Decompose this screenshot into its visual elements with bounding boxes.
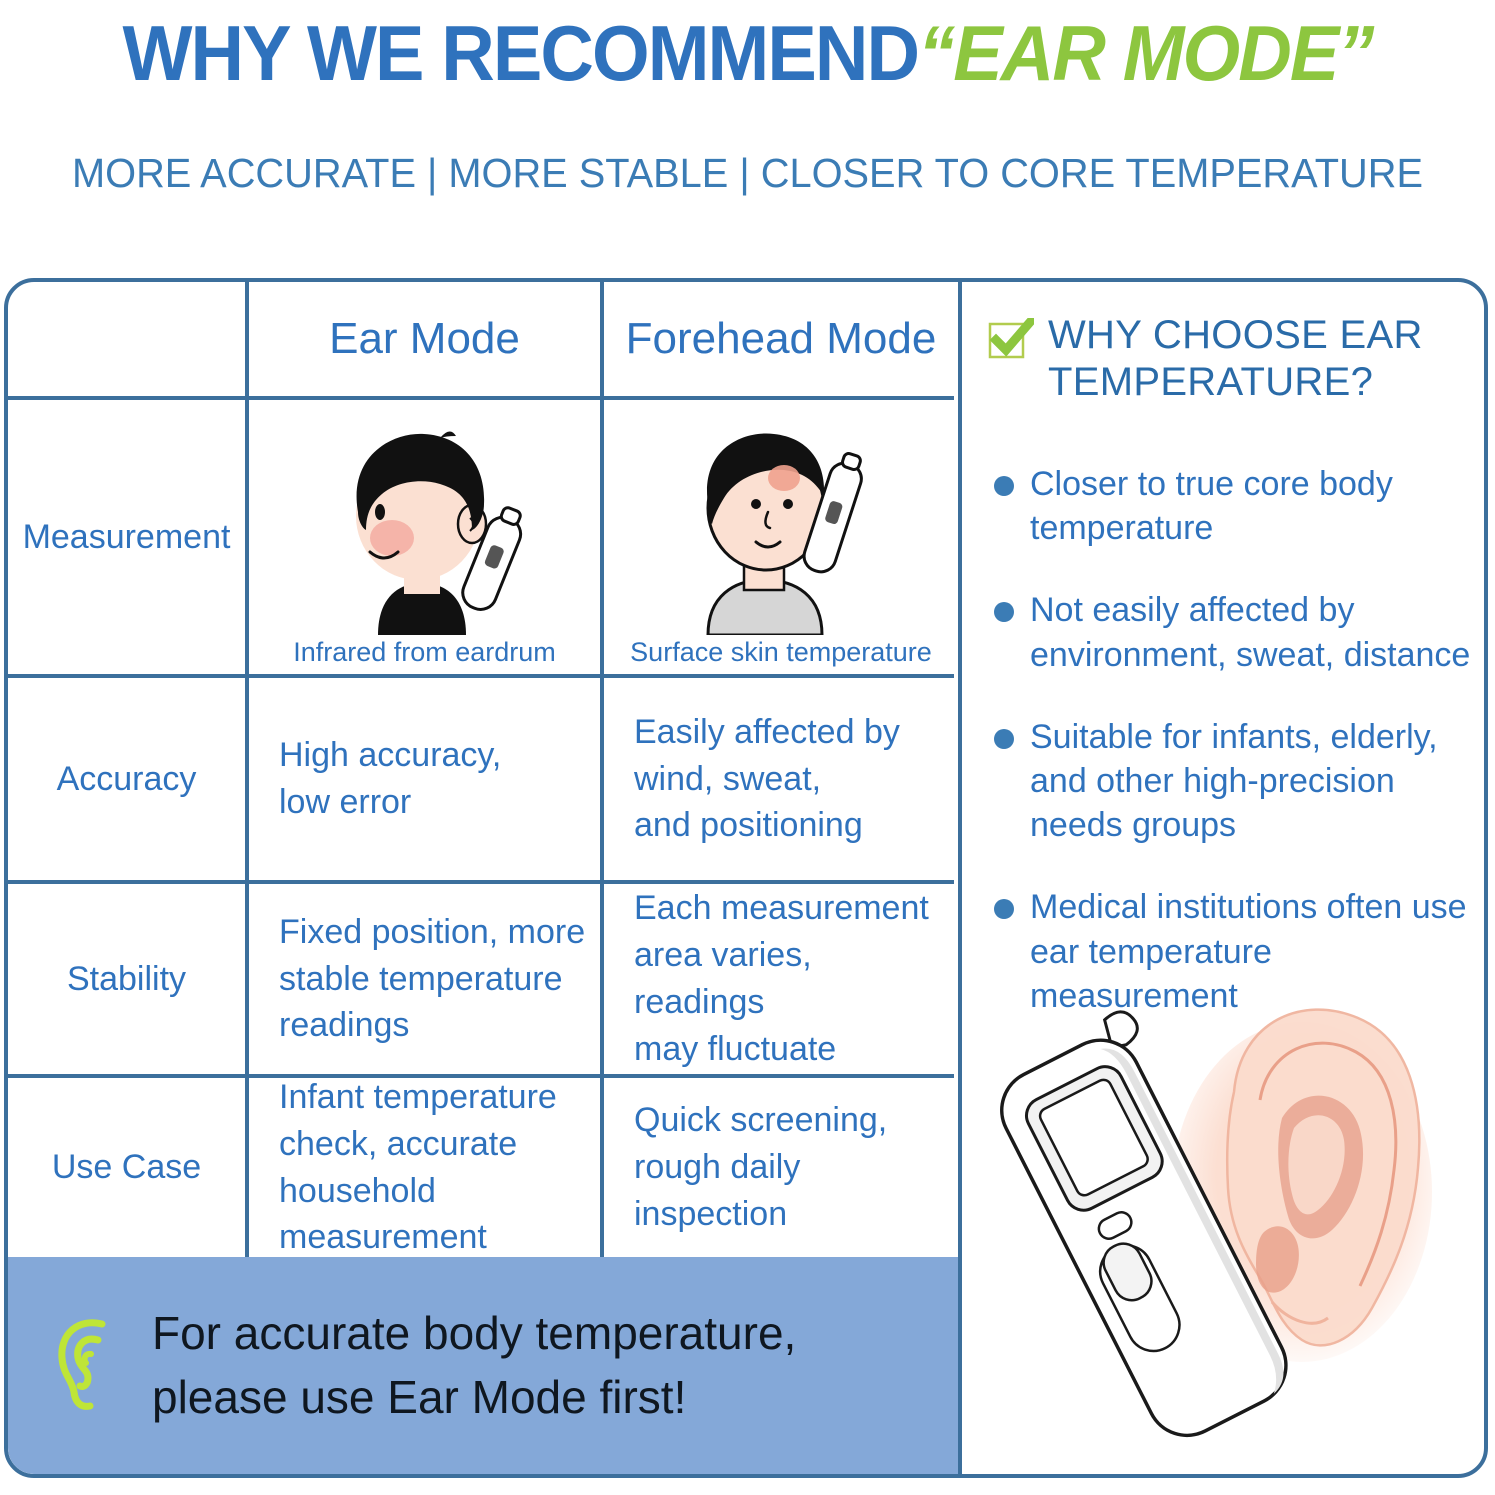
list-item: Closer to true core body temperature <box>994 462 1484 550</box>
list-item: Suitable for infants, elderly, and other… <box>994 715 1484 848</box>
benefit-text: Closer to true core body temperature <box>1030 462 1393 550</box>
heading-line-2: TEMPERATURE? <box>1048 360 1373 404</box>
table-row-label-stability: Stability <box>8 884 245 1074</box>
table-cell-use-case-forehead: Quick screening, rough daily inspection <box>604 1078 958 1257</box>
table-cell-stability-forehead: Each measurement area varies, readings m… <box>604 884 958 1074</box>
man-forehead-measurement-icon <box>656 420 906 635</box>
ear-icon <box>50 1314 128 1417</box>
bullet-dot-icon <box>994 476 1014 496</box>
table-cell-measurement-ear-illustration: Infrared from eardrum <box>249 400 600 674</box>
comparison-panel: Ear Mode Forehead Mode Measurement <box>4 278 1488 1478</box>
benefit-text: Suitable for infants, elderly, and other… <box>1030 715 1438 848</box>
recommendation-banner: For accurate body temperature, please us… <box>8 1257 958 1474</box>
ear-thermometer-illustration <box>972 942 1488 1472</box>
table-cell-use-case-ear: Infant temperature check, accurate house… <box>249 1078 600 1257</box>
table-cell-measurement-forehead-illustration: Surface skin temperature <box>604 400 958 674</box>
page-title: WHY WE RECOMMEND“EAR MODE” <box>37 8 1457 99</box>
why-choose-panel: WHY CHOOSE EAR TEMPERATURE? Closer to tr… <box>958 282 1488 1474</box>
comparison-table: Ear Mode Forehead Mode Measurement <box>8 282 958 1474</box>
boy-ear-measurement-icon <box>300 420 550 635</box>
header: WHY WE RECOMMEND“EAR MODE” MORE ACCURATE… <box>0 0 1495 270</box>
table-cell-accuracy-ear: High accuracy, low error <box>249 678 600 880</box>
table-cell-accuracy-forehead: Easily affected by wind, sweat, and posi… <box>604 678 958 880</box>
list-item: Not easily affected by environment, swea… <box>994 588 1484 676</box>
table-cell-caption-forehead: Surface skin temperature <box>630 637 932 668</box>
table-cell-caption-ear: Infrared from eardrum <box>293 637 556 668</box>
checkbox-checked-icon <box>988 318 1034 365</box>
why-choose-heading: WHY CHOOSE EAR TEMPERATURE? <box>988 312 1468 406</box>
banner-text: For accurate body temperature, please us… <box>152 1302 796 1429</box>
bullet-dot-icon <box>994 602 1014 622</box>
title-green-part: “EAR MODE” <box>918 9 1372 97</box>
table-header-ear-mode: Ear Mode <box>249 282 600 396</box>
table-row-label-measurement: Measurement <box>8 400 245 674</box>
page-subtitle: MORE ACCURATE | MORE STABLE | CLOSER TO … <box>22 150 1472 197</box>
table-row-label-accuracy: Accuracy <box>8 678 245 880</box>
table-row-label-use-case: Use Case <box>8 1078 245 1257</box>
table-header-forehead-mode: Forehead Mode <box>604 282 958 396</box>
why-choose-heading-text: WHY CHOOSE EAR TEMPERATURE? <box>1048 312 1423 406</box>
bullet-dot-icon <box>994 899 1014 919</box>
benefit-text: Not easily affected by environment, swea… <box>1030 588 1470 676</box>
heading-line-1: WHY CHOOSE EAR <box>1048 313 1423 357</box>
bullet-dot-icon <box>994 729 1014 749</box>
table-cell-stability-ear: Fixed position, more stable temperature … <box>249 884 600 1074</box>
banner-line-1: For accurate body temperature, <box>152 1302 796 1365</box>
title-blue-part: WHY WE RECOMMEND <box>122 9 918 97</box>
banner-line-2: please use Ear Mode first! <box>152 1366 796 1429</box>
